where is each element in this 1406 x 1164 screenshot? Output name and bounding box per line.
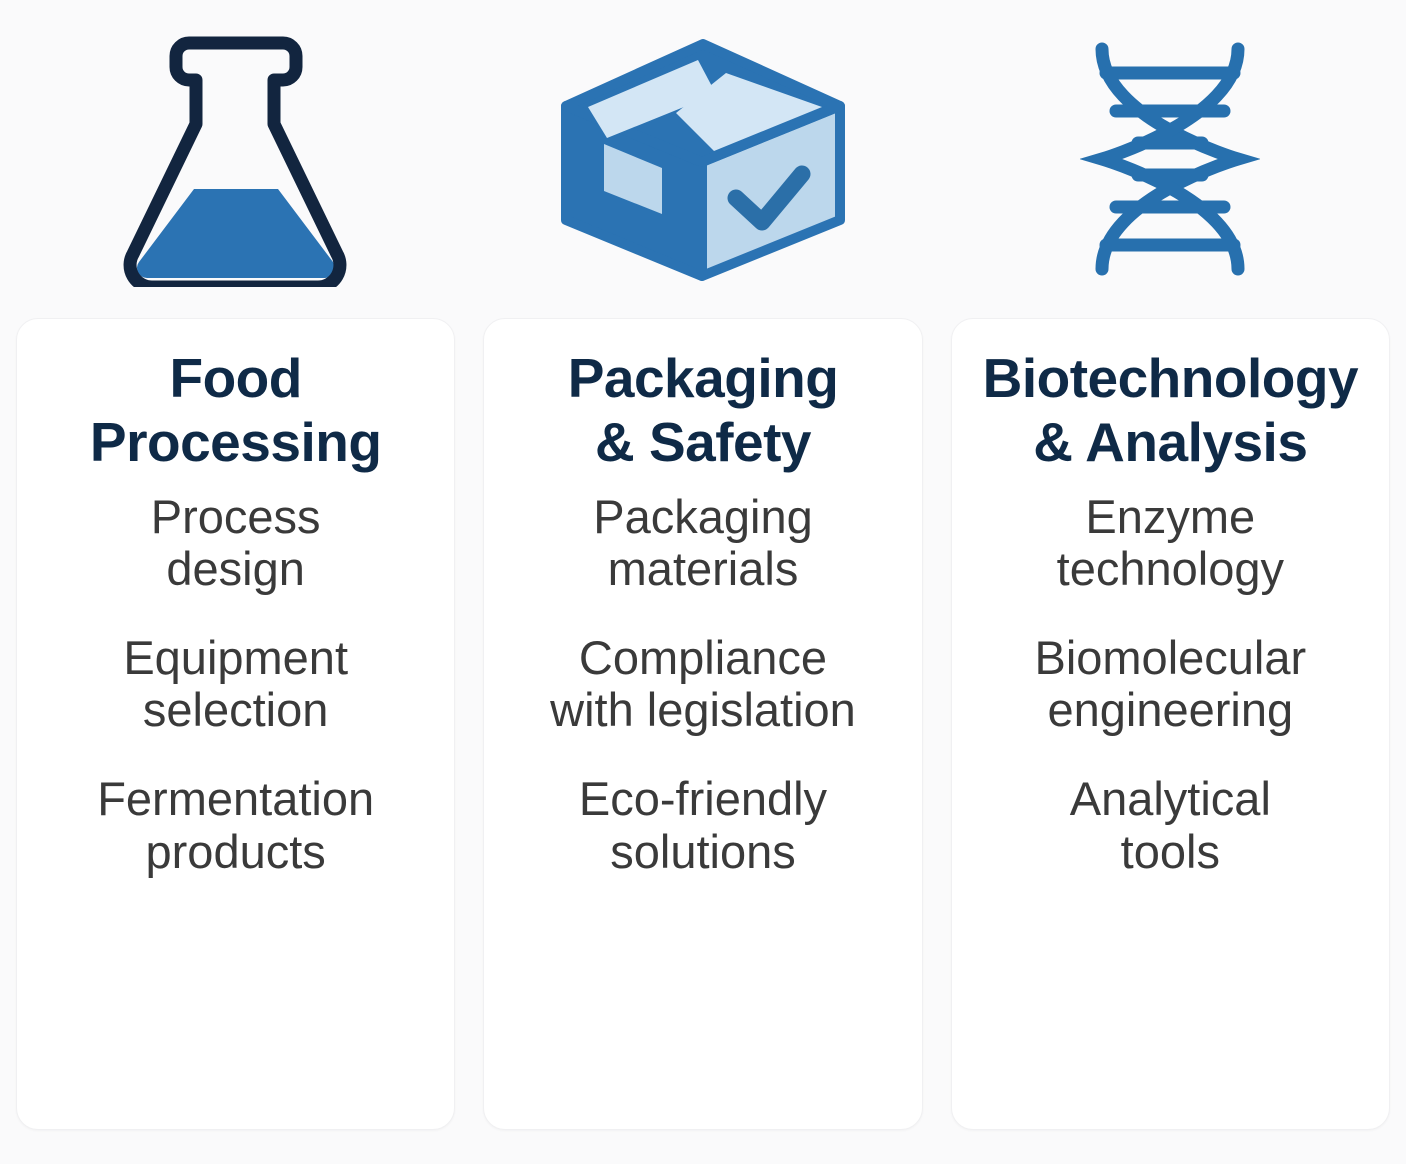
category-column-food-processing: Food Processing Process design Equipment… [16, 0, 455, 1164]
card-title: Packaging & Safety [568, 347, 839, 475]
dna-helix-icon [1080, 39, 1260, 279]
infographic-board: Food Processing Process design Equipment… [0, 0, 1406, 1164]
card-title: Food Processing [90, 347, 382, 475]
category-card-food-processing[interactable]: Food Processing Process design Equipment… [16, 318, 455, 1130]
card-item: Packaging materials [496, 491, 909, 596]
category-columns: Food Processing Process design Equipment… [0, 0, 1406, 1164]
card-item: Fermentation products [29, 773, 442, 878]
category-column-biotechnology-analysis: Biotechnology & Analysis Enzyme technolo… [951, 0, 1390, 1164]
category-card-biotechnology-analysis[interactable]: Biotechnology & Analysis Enzyme technolo… [951, 318, 1390, 1130]
card-item: Biomolecular engineering [964, 632, 1377, 737]
icon-area-food-processing [16, 0, 455, 318]
icon-area-packaging-safety [483, 0, 922, 318]
category-card-packaging-safety[interactable]: Packaging & Safety Packaging materials C… [483, 318, 922, 1130]
package-box-check-icon [558, 34, 848, 284]
card-item: Compliance with legislation [496, 632, 909, 737]
card-item: Process design [29, 491, 442, 596]
card-item: Equipment selection [29, 632, 442, 737]
card-title: Biotechnology & Analysis [983, 347, 1358, 475]
card-item-list: Packaging materials Compliance with legi… [496, 491, 909, 879]
card-item-list: Process design Equipment selection Ferme… [29, 491, 442, 879]
erlenmeyer-flask-icon [111, 31, 361, 287]
card-item: Eco-friendly solutions [496, 773, 909, 878]
category-column-packaging-safety: Packaging & Safety Packaging materials C… [483, 0, 922, 1164]
card-item: Enzyme technology [964, 491, 1377, 596]
card-item-list: Enzyme technology Biomolecular engineeri… [964, 491, 1377, 879]
card-item: Analytical tools [964, 773, 1377, 878]
icon-area-biotechnology-analysis [951, 0, 1390, 318]
